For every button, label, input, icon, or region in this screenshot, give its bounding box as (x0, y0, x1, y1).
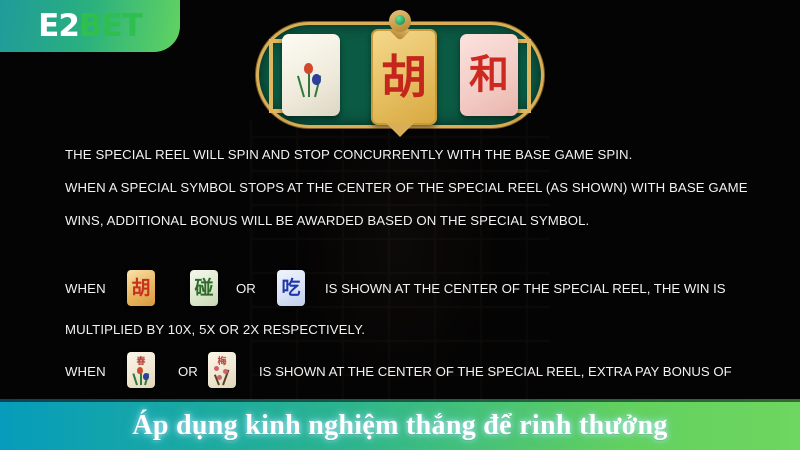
special-reel-graphic: 胡 和 (256, 22, 544, 128)
logo-text-e2: E2 (38, 8, 79, 44)
reel-tile-he-glyph: 和 (469, 55, 509, 95)
e2bet-logo[interactable]: E2BET (0, 0, 180, 52)
paragraph-line-1: THE SPECIAL REEL WILL SPIN AND STOP CONC… (65, 147, 632, 162)
paragraph-line-2: WHEN A SPECIAL SYMBOL STOPS AT THE CENTE… (65, 180, 748, 195)
paragraph-line-3: WINS, ADDITIONAL BONUS WILL BE AWARDED B… (65, 213, 589, 228)
inline-tile-chi: 吃 (277, 270, 305, 306)
rule2-suffix: IS SHOWN AT THE CENTER OF THE SPECIAL RE… (259, 364, 732, 379)
rule1-second-line: MULTIPLIED BY 10X, 5X OR 2X RESPECTIVELY… (65, 322, 365, 337)
promo-banner-text: Áp dụng kinh nghiệm thắng để rinh thưởng (132, 410, 667, 442)
logo-text-bet: BET (79, 8, 142, 44)
reel-tile-hu: 胡 (371, 29, 437, 125)
promo-banner[interactable]: Áp dụng kinh nghiệm thắng để rinh thưởng (0, 402, 800, 450)
reel-tile-he: 和 (460, 34, 518, 116)
logo-wordmark: E2BET (38, 11, 142, 42)
inline-tile-peng-glyph: 碰 (194, 279, 213, 298)
rule2-prefix: WHEN (65, 364, 106, 379)
inline-tile-mei: 梅 (208, 352, 236, 388)
rule2-or: OR (178, 364, 198, 379)
reel-tile-flower (282, 34, 340, 116)
rule1-suffix: IS SHOWN AT THE CENTER OF THE SPECIAL RE… (325, 281, 726, 296)
inline-tile-chun: 春 (127, 352, 155, 388)
inline-tile-chi-glyph: 吃 (281, 279, 300, 298)
reel-pointer-bottom-icon (386, 123, 414, 137)
reel-tile-hu-glyph: 胡 (381, 54, 427, 100)
rule1-prefix: WHEN (65, 281, 106, 296)
mei-blossom-artwork (211, 363, 233, 385)
chun-flower-artwork (130, 363, 152, 385)
inline-tile-hu-glyph: 胡 (131, 279, 150, 298)
inline-tile-peng: 碰 (190, 270, 218, 306)
promo-image: E2BET (0, 0, 800, 450)
rule1-or: OR (236, 281, 256, 296)
reel-pointer-gem-icon (389, 10, 411, 40)
inline-tile-hu: 胡 (127, 270, 155, 306)
flower-artwork (292, 53, 330, 97)
